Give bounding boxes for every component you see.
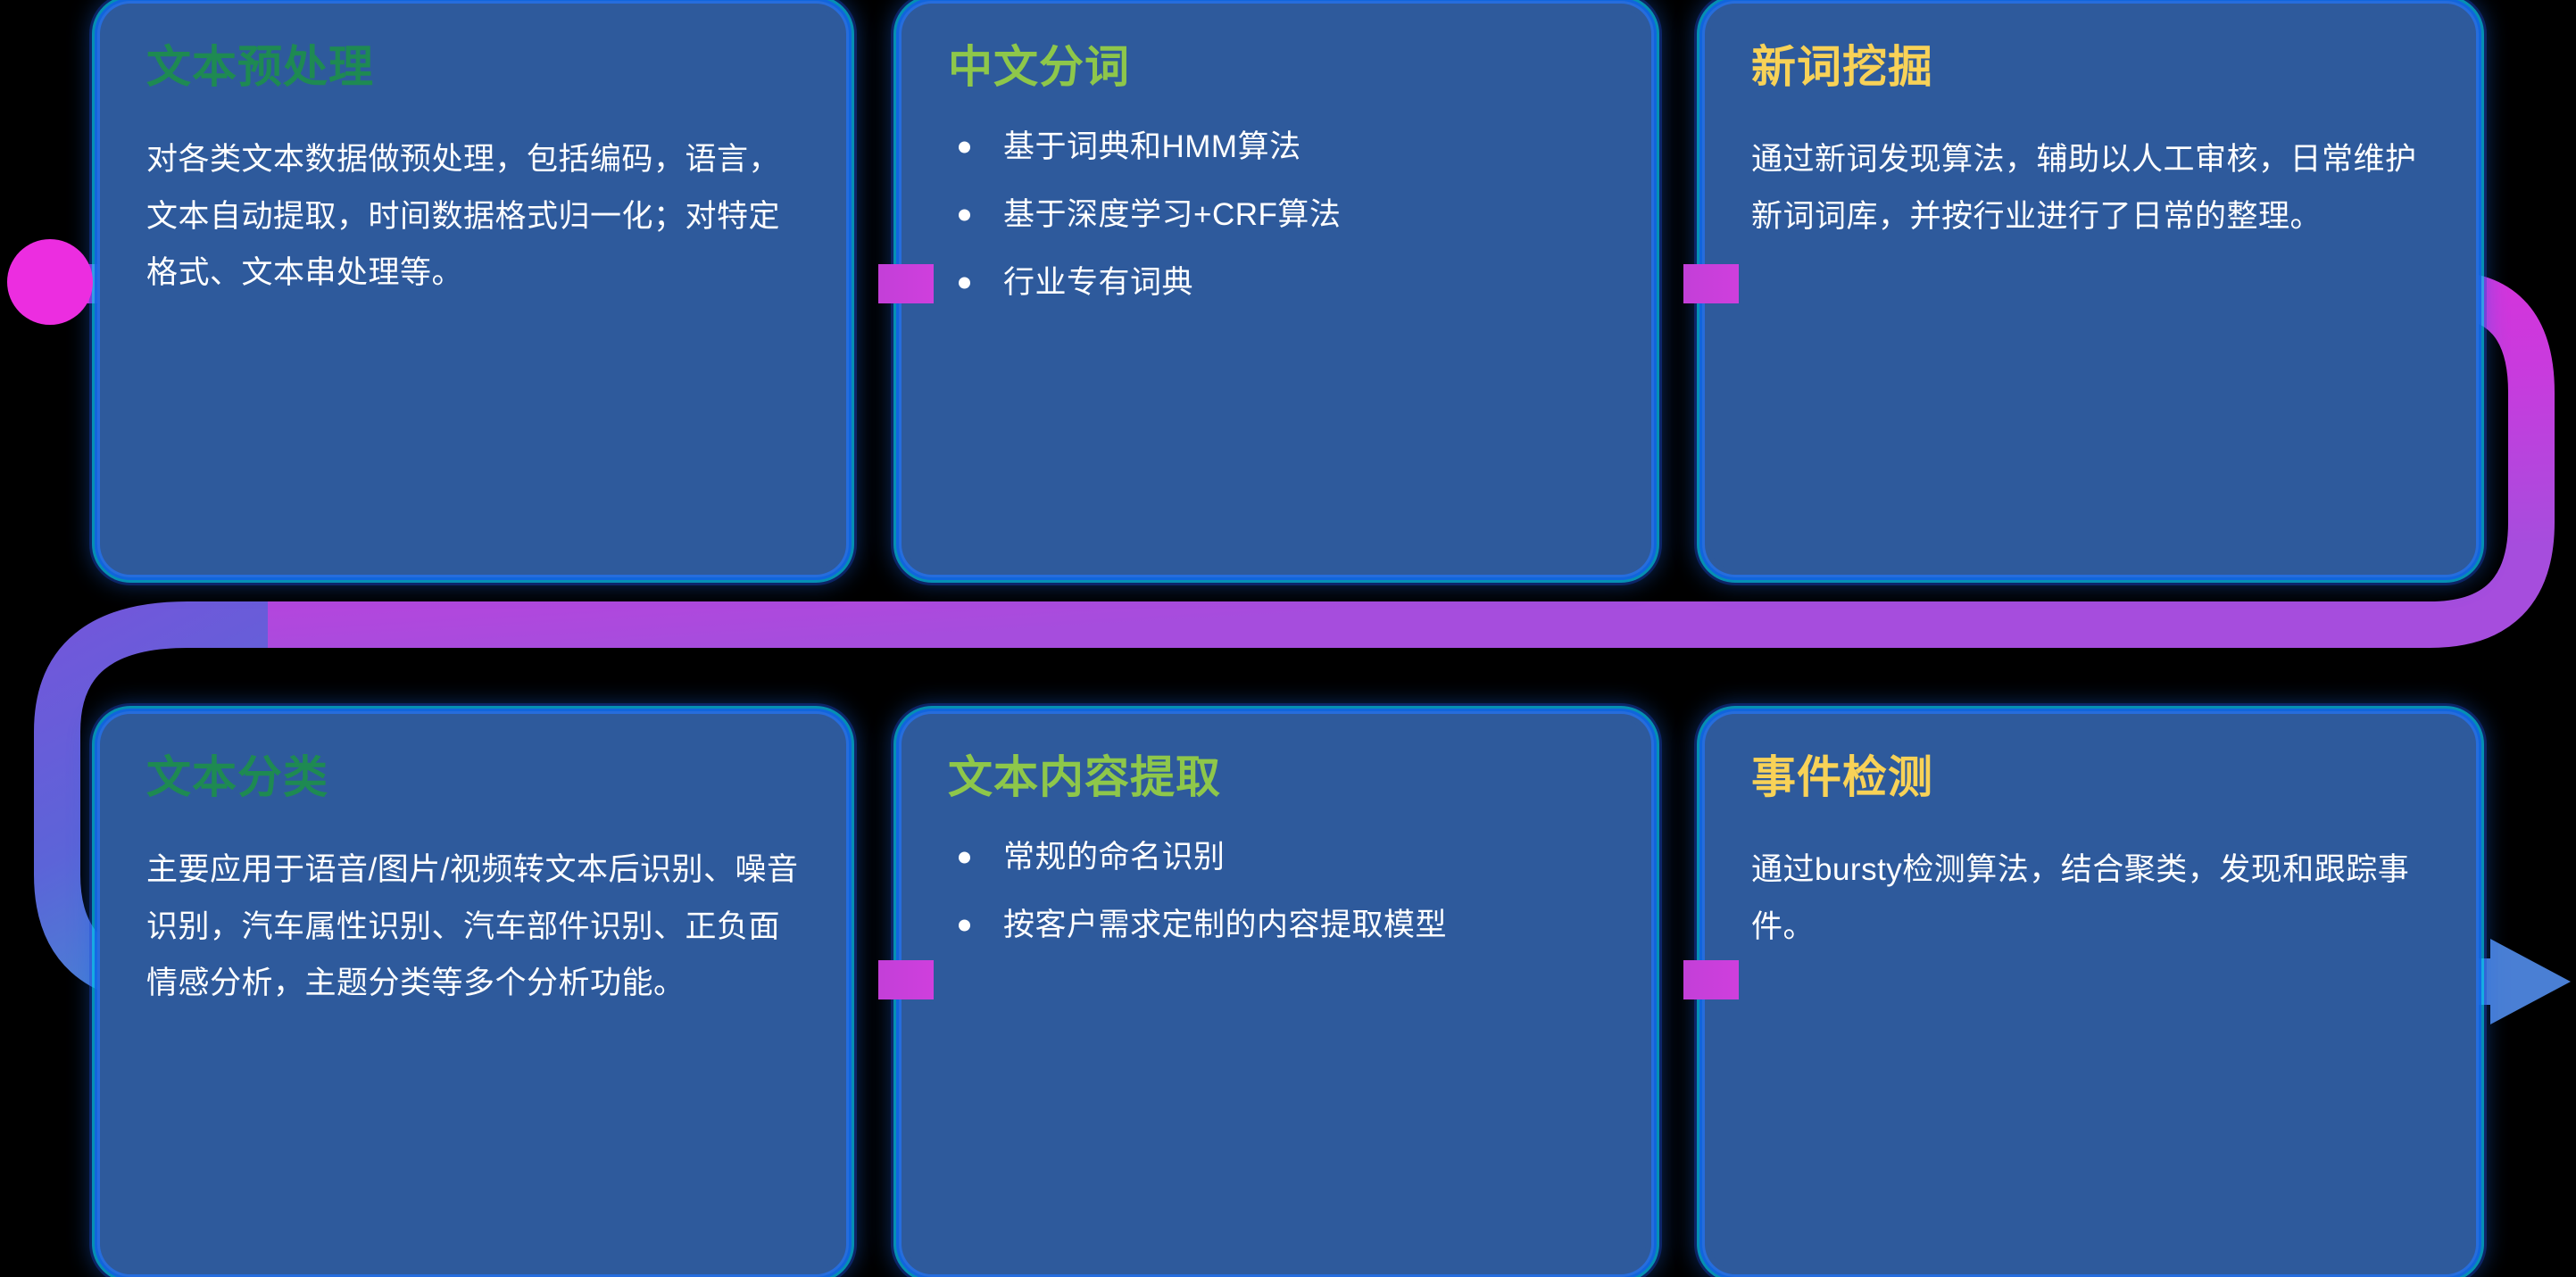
card-title: 中文分词 [948,43,1605,92]
card-text-classification[interactable]: 文本分类 主要应用于语音/图片/视频转文本后识别、噪音识别，汽车属性识别、汽车部… [100,714,846,1274]
card-list: 基于词典和HMM算法 基于深度学习+CRF算法 行业专有词典 [948,131,1605,298]
list-item-label: 基于深度学习+CRF算法 [1003,197,1341,232]
card-body: 通过bursty检测算法，结合聚类，发现和跟踪事件。 [1751,842,2430,955]
connector-classification-to-extraction [878,960,934,999]
list-item-label: 常规的命名识别 [1003,840,1226,875]
list-item-label: 按客户需求定制的内容提取模型 [1003,908,1447,942]
card-title: 事件检测 [1751,753,2430,802]
start-dot [7,239,93,325]
card-chinese-word-segmentation[interactable]: 中文分词 基于词典和HMM算法 基于深度学习+CRF算法 行业专有词典 [902,4,1651,575]
card-body: 对各类文本数据做预处理，包括编码，语言，文本自动提取，时间数据格式归一化；对特定… [146,131,800,302]
connector-extraction-to-eventdetection [1683,960,1739,999]
card-new-word-discovery[interactable]: 新词挖掘 通过新词发现算法，辅助以人工审核，日常维护新词词库，并按行业进行了日常… [1705,4,2476,575]
list-item: 按客户需求定制的内容提取模型 [948,909,1605,941]
bullet-icon [959,209,970,220]
bullet-icon [959,851,970,863]
card-text-content-extraction[interactable]: 文本内容提取 常规的命名识别 按客户需求定制的内容提取模型 [902,714,1651,1274]
list-item-label: 基于词典和HMM算法 [1003,129,1301,164]
connector-segmentation-to-newword [1683,264,1739,303]
list-item: 行业专有词典 [948,267,1605,298]
card-title: 文本分类 [146,753,800,802]
list-item: 基于深度学习+CRF算法 [948,199,1605,230]
card-body: 主要应用于语音/图片/视频转文本后识别、噪音识别，汽车属性识别、汽车部件识别、正… [146,842,800,1012]
card-event-detection[interactable]: 事件检测 通过bursty检测算法，结合聚类，发现和跟踪事件。 [1705,714,2476,1274]
list-item-label: 行业专有词典 [1003,265,1193,300]
bullet-icon [959,277,970,288]
card-list: 常规的命名识别 按客户需求定制的内容提取模型 [948,842,1605,941]
row-top: 文本预处理 对各类文本数据做预处理，包括编码，语言，文本自动提取，时间数据格式归… [100,4,2476,575]
end-arrow-icon [2490,939,2571,1024]
card-text-preprocessing[interactable]: 文本预处理 对各类文本数据做预处理，包括编码，语言，文本自动提取，时间数据格式归… [100,4,846,575]
bullet-icon [959,919,970,931]
bullet-icon [959,141,970,153]
card-title: 新词挖掘 [1751,43,2430,92]
card-body: 通过新词发现算法，辅助以人工审核，日常维护新词词库，并按行业进行了日常的整理。 [1751,131,2430,245]
diagram-canvas: 文本预处理 对各类文本数据做预处理，包括编码，语言，文本自动提取，时间数据格式归… [0,0,2576,1277]
list-item: 基于词典和HMM算法 [948,131,1605,162]
connector-preprocessing-to-segmentation [878,264,934,303]
card-title: 文本内容提取 [948,753,1605,802]
list-item: 常规的命名识别 [948,842,1605,873]
row-bottom: 文本分类 主要应用于语音/图片/视频转文本后识别、噪音识别，汽车属性识别、汽车部… [100,714,2476,1274]
card-title: 文本预处理 [146,43,800,92]
